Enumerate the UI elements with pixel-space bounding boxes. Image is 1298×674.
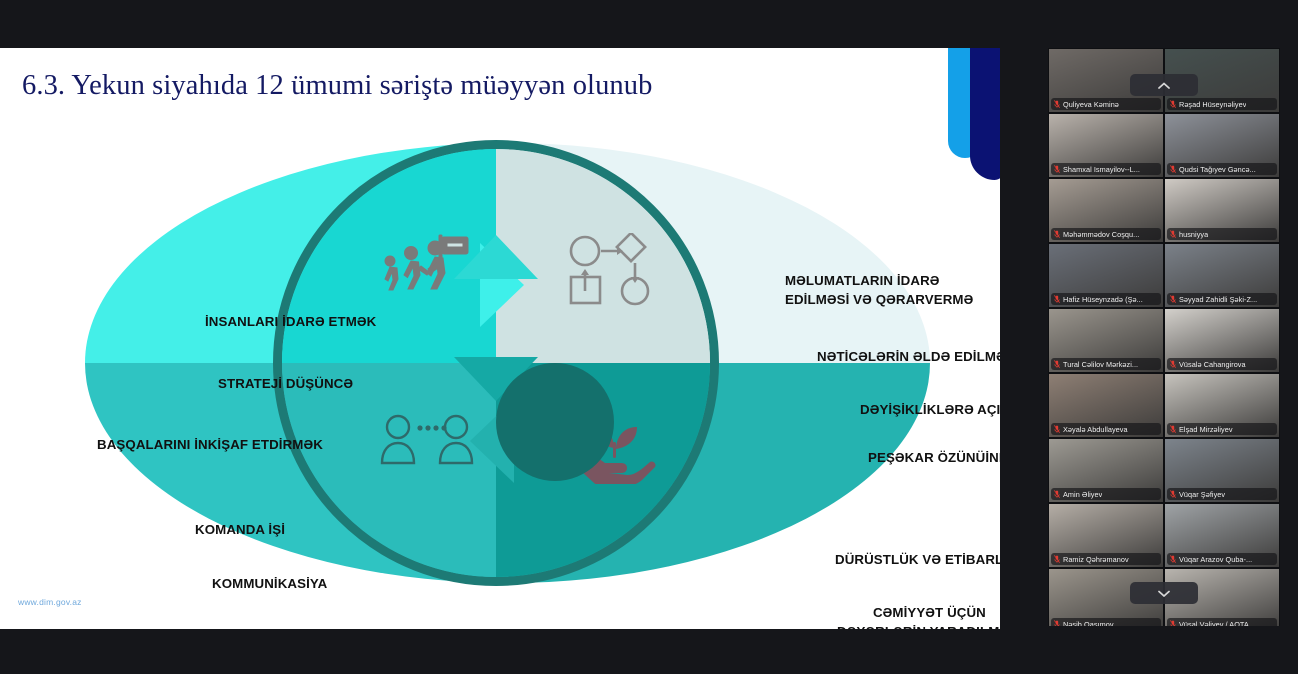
participant-tile[interactable]: Elşad Mirzəliyev (1164, 373, 1280, 438)
competency-label-melumatlarin-idare-edilmesi: MƏLUMATLARIN İDARƏEDİLMƏSİ VƏ QƏRARVERMƏ (785, 271, 973, 310)
competency-label-komanda-isi: KOMANDA İŞİ (195, 521, 285, 539)
participant-nametag: Tural Cəlilov Mərkəzi... (1051, 358, 1161, 370)
mic-muted-icon (1170, 555, 1176, 564)
participant-name: Shamxal Ismayilov--L... (1063, 165, 1140, 174)
participant-nametag: Shamxal Ismayilov--L... (1051, 163, 1161, 175)
participant-row: Məhəmmədov Coşqu...husniyya (1048, 178, 1280, 243)
scroll-down-button[interactable] (1130, 582, 1198, 604)
competency-label-kommunikasiya: KOMMUNİKASİYA (212, 575, 327, 593)
mic-muted-icon (1170, 295, 1176, 304)
participant-nametag: Hafiz Hüseynzadə (Şə... (1051, 293, 1161, 305)
participant-name: Tural Cəlilov Mərkəzi... (1063, 360, 1138, 369)
participant-nametag: Məhəmmədov Coşqu... (1051, 228, 1161, 240)
chevron-up-icon (1158, 82, 1170, 89)
competency-label-pesekar-ozuninkisaf: PEŞƏKAR ÖZÜNÜİNKİŞAF (868, 449, 1000, 467)
mic-muted-icon (1170, 425, 1176, 433)
competency-wheel-diagram: İNSANLARI İDARƏ ETMƏK STRATEJİ DÜŞÜNCƏ B… (75, 123, 935, 603)
mic-muted-icon (1170, 490, 1176, 498)
participant-name: Vüqar Şəfiyev (1179, 490, 1225, 499)
participant-name: husniyya (1179, 230, 1208, 239)
participant-video-panel[interactable]: Quliyeva KəminəRəşad HüseynəliyevShamxal… (1048, 48, 1280, 626)
mic-muted-icon (1170, 165, 1176, 173)
mic-muted-icon (1054, 165, 1060, 174)
competency-label-durustluk-ve-etibarliliq: DÜRÜSTLÜK VƏ ETİBARLILIQ (835, 551, 1000, 569)
mic-muted-icon (1054, 620, 1060, 627)
competency-label-cemiyyet-ucun-deyerlerin-yaradilmasi: CƏMİYYƏT ÜÇÜNDƏYƏRLƏRİN YARADILMASI (837, 604, 1000, 629)
participant-nametag: Rəşad Hüseynəliyev (1167, 98, 1277, 110)
participant-nametag: Vüqar Şəfiyev (1167, 488, 1277, 500)
participant-tile-grid: Quliyeva KəminəRəşad HüseynəliyevShamxal… (1048, 48, 1280, 626)
mic-muted-icon (1054, 360, 1060, 368)
flowchart-icon (565, 233, 657, 307)
mic-muted-icon (1054, 490, 1060, 499)
participant-nametag: Ramiz Qəhrəmanov (1051, 553, 1161, 565)
mic-muted-icon (1054, 555, 1060, 563)
mic-muted-icon (1170, 425, 1176, 434)
participant-nametag: Səyyad Zahidli Şəki-Z... (1167, 293, 1277, 305)
participant-tile[interactable]: Məhəmmədov Coşqu... (1048, 178, 1164, 243)
slide-footer-url: www.dim.gov.az (18, 597, 82, 607)
mic-muted-icon (1054, 620, 1060, 627)
participant-name: Məhəmmədov Coşqu... (1063, 230, 1139, 239)
mic-muted-icon (1170, 230, 1176, 238)
participant-name: Amin Əliyev (1063, 490, 1102, 499)
slide-title: 6.3. Yekun siyahıda 12 ümumi səriştə müə… (22, 70, 652, 102)
participant-name: Vüqar Arazov Quba-... (1179, 555, 1252, 564)
participant-name: Xəyalə Abdullayeva (1063, 425, 1128, 434)
participant-tile[interactable]: Amin Əliyev (1048, 438, 1164, 503)
mic-muted-icon (1054, 100, 1060, 109)
chevron-down-icon (1158, 590, 1170, 597)
participant-nametag: Vüsalə Cahangirova (1167, 358, 1277, 370)
participant-name: Ramiz Qəhrəmanov (1063, 555, 1129, 564)
participant-name: Qudsi Tağıyev Gəncə... (1179, 165, 1256, 174)
presentation-slide: 6.3. Yekun siyahıda 12 ümumi səriştə müə… (0, 48, 1000, 629)
participant-nametag: Quliyeva Kəminə (1051, 98, 1161, 110)
mic-muted-icon (1170, 360, 1176, 368)
participant-nametag: Vüqar Arazov Quba-... (1167, 553, 1277, 565)
mic-muted-icon (1170, 620, 1176, 627)
mic-muted-icon (1170, 100, 1176, 109)
competency-label-deyisikliklere-aciqliq: DƏYİŞİKLİKLƏRƏ AÇIQLIQ (860, 401, 1000, 419)
mic-muted-icon (1054, 425, 1060, 433)
participant-tile[interactable]: Vüsalə Cahangirova (1164, 308, 1280, 373)
participant-name: Hafiz Hüseynzadə (Şə... (1063, 295, 1143, 304)
mic-muted-icon (1170, 295, 1176, 303)
mic-muted-icon (1170, 620, 1176, 627)
participant-tile[interactable]: Vüqar Arazov Quba-... (1164, 503, 1280, 568)
participant-nametag: Elşad Mirzəliyev (1167, 423, 1277, 435)
participant-nametag: Xəyalə Abdullayeva (1051, 423, 1161, 435)
mic-muted-icon (1170, 230, 1176, 239)
participant-row: Ramiz QəhrəmanovVüqar Arazov Quba-... (1048, 503, 1280, 568)
participant-nametag: Nəsib Qasımov (1051, 618, 1161, 626)
participant-tile[interactable]: Shamxal Ismayilov--L... (1048, 113, 1164, 178)
corner-decoration-dark-icon (970, 48, 1000, 180)
scroll-up-button[interactable] (1130, 74, 1198, 96)
participant-row: Hafiz Hüseynzadə (Şə...Səyyad Zahidli Şə… (1048, 243, 1280, 308)
competency-label-neticelerin-elde-edilmesi: NƏTİCƏLƏRİN ƏLDƏ EDİLMƏSİ (817, 348, 1000, 366)
participant-row: Amin ƏliyevVüqar Şəfiyev (1048, 438, 1280, 503)
participant-nametag: Qudsi Tağıyev Gəncə... (1167, 163, 1277, 175)
participant-tile[interactable]: Səyyad Zahidli Şəki-Z... (1164, 243, 1280, 308)
mic-muted-icon (1170, 100, 1176, 108)
participant-nametag: husniyya (1167, 228, 1277, 240)
participant-tile[interactable]: Vüqar Şəfiyev (1164, 438, 1280, 503)
participant-row: Xəyalə AbdullayevaElşad Mirzəliyev (1048, 373, 1280, 438)
competency-label-insanlari-idare-etmek: İNSANLARI İDARƏ ETMƏK (205, 313, 376, 331)
mic-muted-icon (1054, 360, 1060, 369)
participant-row: Shamxal Ismayilov--L...Qudsi Tağıyev Gən… (1048, 113, 1280, 178)
participant-tile[interactable]: Xəyalə Abdullayeva (1048, 373, 1164, 438)
wheel-hub (496, 363, 614, 481)
mic-muted-icon (1170, 165, 1176, 174)
competency-label-emosional-zeka: EMOSİONAL ZƏKA (230, 627, 352, 629)
participant-tile[interactable]: Tural Cəlilov Mərkəzi... (1048, 308, 1164, 373)
participant-nametag: Vüsal Vəliyev / AQTA ... (1167, 618, 1277, 626)
screen-share-stage: 6.3. Yekun siyahıda 12 ümumi səriştə müə… (0, 0, 1014, 674)
participant-row: Tural Cəlilov Mərkəzi...Vüsalə Cahangiro… (1048, 308, 1280, 373)
competency-label-strateji-dusunce: STRATEJİ DÜŞÜNCƏ (218, 375, 353, 393)
participant-nametag: Amin Əliyev (1051, 488, 1161, 500)
mic-muted-icon (1054, 100, 1060, 108)
participant-name: Quliyeva Kəminə (1063, 100, 1119, 109)
wheel-ring (273, 140, 719, 586)
mic-muted-icon (1054, 230, 1060, 238)
mic-muted-icon (1054, 230, 1060, 239)
mic-muted-icon (1054, 555, 1060, 564)
participant-name: Nəsib Qasımov (1063, 620, 1114, 627)
participant-tile[interactable]: Hafiz Hüseynzadə (Şə... (1048, 243, 1164, 308)
mic-muted-icon (1054, 490, 1060, 498)
mic-muted-icon (1170, 490, 1176, 499)
people-with-flag-icon (378, 231, 474, 303)
participant-name: Rəşad Hüseynəliyev (1179, 100, 1246, 109)
participant-tile[interactable]: husniyya (1164, 178, 1280, 243)
participant-name: Vüsal Vəliyev / AQTA ... (1179, 620, 1257, 627)
participant-name: Səyyad Zahidli Şəki-Z... (1179, 295, 1257, 304)
participant-name: Vüsalə Cahangirova (1179, 360, 1246, 369)
two-people-talking-icon (380, 413, 476, 467)
mic-muted-icon (1054, 295, 1060, 303)
mic-muted-icon (1170, 555, 1176, 563)
mic-muted-icon (1054, 165, 1060, 173)
mic-muted-icon (1054, 295, 1060, 304)
participant-tile[interactable]: Qudsi Tağıyev Gəncə... (1164, 113, 1280, 178)
participant-tile[interactable]: Ramiz Qəhrəmanov (1048, 503, 1164, 568)
competency-label-basqalarini-inkisaf-etdirmek: BAŞQALARINI İNKİŞAF ETDİRMƏK (97, 436, 323, 454)
mic-muted-icon (1170, 360, 1176, 369)
mic-muted-icon (1054, 425, 1060, 434)
participant-name: Elşad Mirzəliyev (1179, 425, 1233, 434)
